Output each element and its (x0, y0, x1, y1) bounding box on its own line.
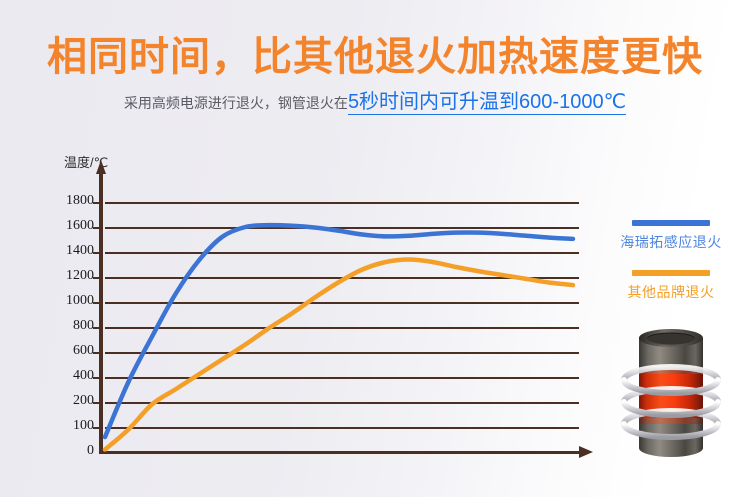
y-axis-tick-600: 600 (44, 344, 94, 358)
promo-banner: 相同时间，比其他退火加热速度更快 采用高频电源进行退火，钢管退火在5秒时间内可升… (0, 0, 750, 497)
y-axis-tick-1200: 1200 (44, 269, 94, 283)
page-title: 相同时间，比其他退火加热速度更快 (0, 24, 750, 82)
series-line-haiduo (105, 260, 573, 450)
legend-label-haiduo: 海瑞拓感应退火 (620, 234, 722, 250)
y-axis-tick-1000: 1000 (44, 294, 94, 308)
y-axis-tick-labels: 180016001400120010008006004002001000 (40, 140, 94, 497)
y-axis-tick-100: 100 (44, 419, 94, 433)
series-curves (99, 140, 591, 497)
header: 相同时间，比其他退火加热速度更快 采用高频电源进行退火，钢管退火在5秒时间内可升… (0, 0, 750, 140)
y-axis-tick-1400: 1400 (44, 244, 94, 258)
temperature-chart: 温度/℃ 18001600140012001000800600400200100… (0, 140, 750, 497)
legend-swatch-blue (632, 220, 710, 226)
y-axis-tick-0: 0 (44, 444, 94, 458)
y-axis-tick-1800: 1800 (44, 194, 94, 208)
legend-item-other[interactable]: 其他品牌退火 (592, 270, 750, 302)
legend-label-other: 其他品牌退火 (628, 284, 715, 300)
y-axis-tick-800: 800 (44, 319, 94, 333)
y-axis-tick-400: 400 (44, 369, 94, 383)
subtitle-plain-text: 采用高频电源进行退火，钢管退火在 (124, 95, 348, 111)
chart-legend: 海瑞拓感应退火 其他品牌退火 (592, 220, 750, 320)
series-line-other (105, 225, 573, 437)
subtitle-highlight-text: 5秒时间内可升温到600-1000℃ (348, 91, 626, 115)
legend-item-haiduo[interactable]: 海瑞拓感应退火 (592, 220, 750, 252)
plot-area (99, 140, 591, 497)
legend-swatch-orange (632, 270, 710, 276)
y-axis-tick-200: 200 (44, 394, 94, 408)
subtitle: 采用高频电源进行退火，钢管退火在5秒时间内可升温到600-1000℃ (0, 92, 750, 112)
y-axis-tick-1600: 1600 (44, 219, 94, 233)
induction-heated-pipe-illustration (606, 322, 736, 472)
